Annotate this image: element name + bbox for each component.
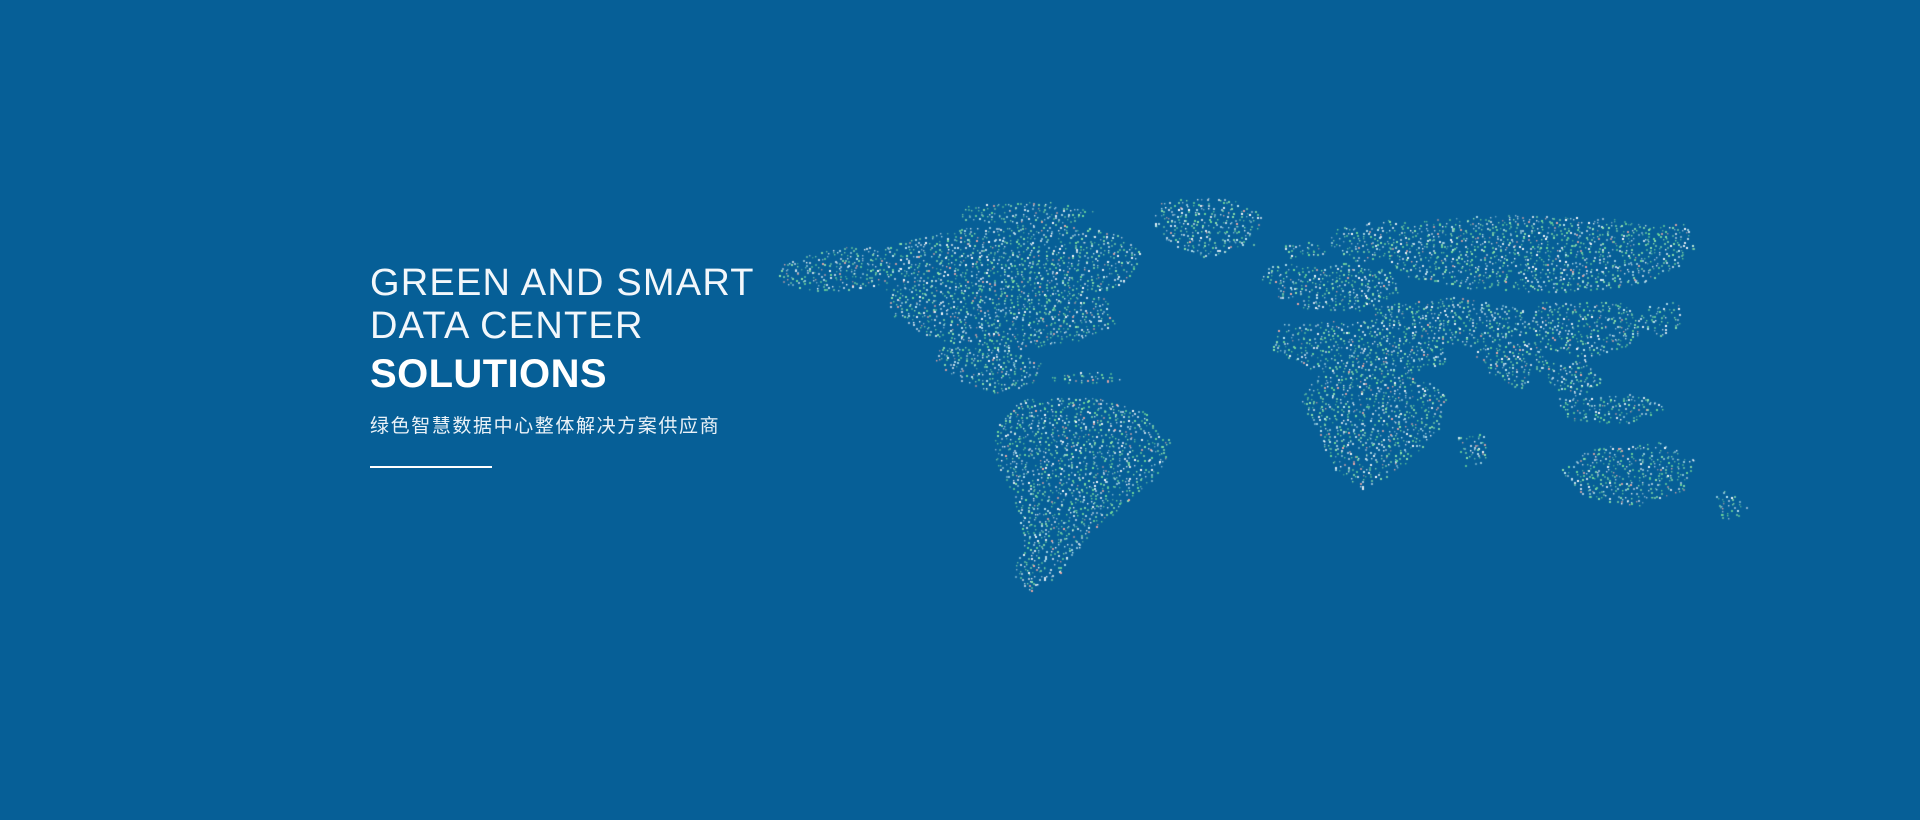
headline-line-1: GREEN AND SMART: [370, 262, 930, 305]
headline-line-2: DATA CENTER: [370, 305, 930, 348]
world-map-canvas: [0, 0, 1920, 820]
hero-subtitle: 绿色智慧数据中心整体解决方案供应商: [370, 414, 930, 440]
hero-divider-rule: [370, 466, 492, 468]
dotted-world-map: [0, 0, 1920, 820]
headline-line-3: SOLUTIONS: [370, 350, 930, 398]
hero-text-block: GREEN AND SMART DATA CENTER SOLUTIONS 绿色…: [370, 262, 930, 468]
hero-banner: GREEN AND SMART DATA CENTER SOLUTIONS 绿色…: [0, 0, 1920, 820]
